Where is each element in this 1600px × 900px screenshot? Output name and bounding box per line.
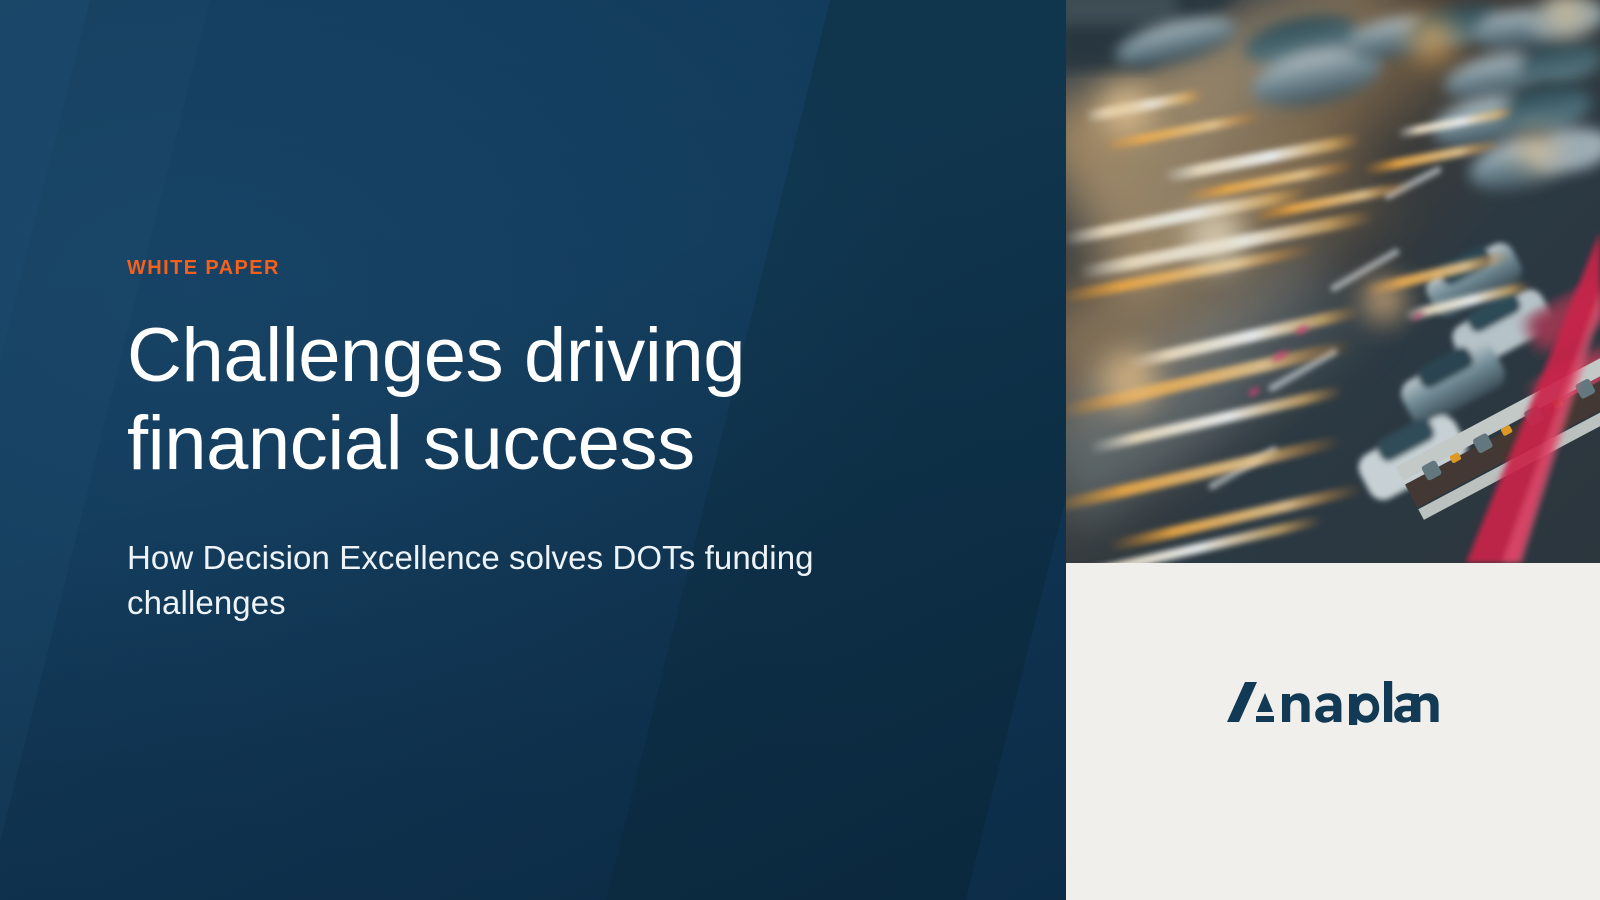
logo-panel: Anaplan xyxy=(1066,563,1600,900)
right-column: Anaplan xyxy=(1066,0,1600,900)
document-type-label: WHITE PAPER xyxy=(127,258,927,278)
cover-copy-block: WHITE PAPER Challenges driving financial… xyxy=(127,258,927,626)
hero-photo xyxy=(1066,0,1600,563)
anaplan-logo: Anaplan xyxy=(1227,679,1439,725)
white-paper-cover-page: WHITE PAPER Challenges driving financial… xyxy=(0,0,1600,900)
left-background-panel: WHITE PAPER Challenges driving financial… xyxy=(0,0,1066,900)
page-title: Challenges driving financial success xyxy=(127,312,827,488)
page-subtitle: How Decision Excellence solves DOTs fund… xyxy=(127,536,817,626)
